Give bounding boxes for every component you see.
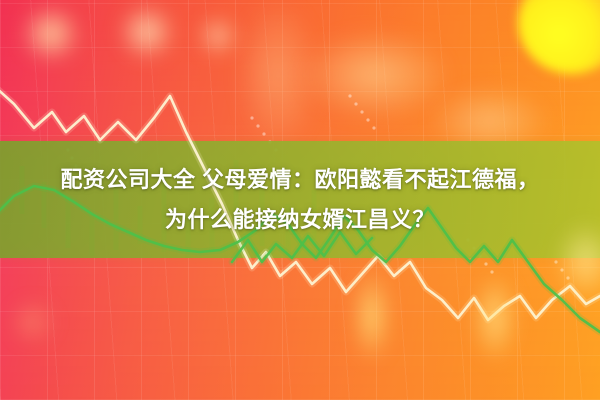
light-blob-9 [10,300,56,344]
light-blob-7 [472,272,518,364]
light-blob-6 [352,268,392,364]
headline-text: 配资公司大全 父母爱情：欧阳懿看不起江德福， 为什么能接纳女婿江昌义？ [0,160,600,240]
headline-line-2: 为什么能接纳女婿江昌义？ [0,200,600,240]
thumbnail-canvas: 配资公司大全 父母爱情：欧阳懿看不起江德福， 为什么能接纳女婿江昌义？ [0,0,600,400]
headline-line-1: 配资公司大全 父母爱情：欧阳懿看不起江德福， [0,160,600,200]
